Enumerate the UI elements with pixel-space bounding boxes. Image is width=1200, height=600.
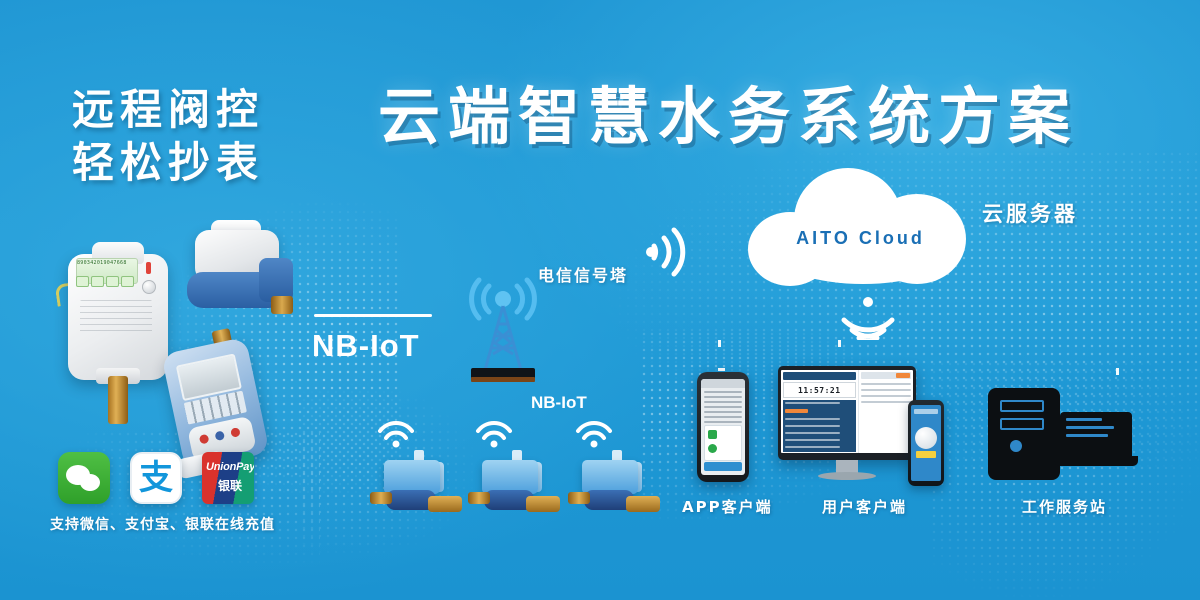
meter-led-indicator <box>146 262 151 274</box>
tower-label: 电信信号塔 <box>538 262 628 286</box>
tagline: 远程阀控 轻松抄表 <box>72 84 264 189</box>
alipay-glyph: 支 <box>139 461 173 495</box>
white-smart-water-meter: 890342019047668 <box>62 236 174 412</box>
field-water-meter <box>566 456 662 528</box>
nbiot-primary-text: NB-IoT <box>312 328 420 363</box>
meter-button <box>142 280 156 294</box>
wifi-signal-icon-uplink <box>646 220 702 284</box>
cloud-server-icon: AITO Cloud <box>748 168 973 286</box>
tagline-line-2: 轻松抄表 <box>72 137 264 190</box>
field-water-meter <box>466 456 562 528</box>
meter-spec-label <box>80 300 152 336</box>
telecom-signal-tower-icon <box>455 272 551 384</box>
page-title: 云端智慧水务系统方案 <box>378 86 1078 148</box>
unionpay-cn-label: 银联 <box>218 477 242 494</box>
wechat-pay-icon <box>58 452 110 504</box>
valve-water-meter <box>175 230 305 340</box>
client-label-workstation: 工作服务站 <box>1022 496 1107 517</box>
secondary-smartphone-icon <box>908 400 944 486</box>
monitor-base <box>818 472 876 480</box>
cloud-brand-text: AITO Cloud <box>748 228 973 249</box>
valve-brass-fitting <box>271 296 293 314</box>
desktop-monitor-icon: 11:57:21 <box>778 366 916 488</box>
link-bus-to-app <box>718 340 721 370</box>
client-label-app: APP客户端 <box>682 496 773 517</box>
server-workstation-icon <box>988 388 1138 484</box>
nbiot-secondary-label: NB-IoT <box>531 393 587 413</box>
monitor-screen: 11:57:21 <box>781 370 913 453</box>
smartphone-icon <box>697 372 749 482</box>
nbiot-rule <box>314 314 432 317</box>
monitor-frame: 11:57:21 <box>778 366 916 460</box>
unionpay-icon: UnionPay 银联 <box>202 452 254 504</box>
meter-status-icons <box>76 276 134 287</box>
field-water-meter <box>368 456 464 528</box>
phone-screen <box>701 379 745 475</box>
client-label-pc: 用户客户端 <box>822 496 907 517</box>
wifi-icon <box>376 416 416 455</box>
payment-caption: 支持微信、支付宝、银联在线充值 <box>50 514 275 534</box>
poster-canvas: 远程阀控 轻松抄表 云端智慧水务系统方案 890342019047668 <box>0 0 1200 600</box>
unionpay-wordmark: UnionPay <box>206 461 250 473</box>
laptop <box>1054 412 1138 468</box>
meter-brass-pipe <box>108 376 128 424</box>
wifi-icon <box>474 416 514 455</box>
dashboard-clock: 11:57:21 <box>783 382 856 398</box>
nbiot-primary-label: NB-IoT <box>312 328 420 364</box>
cloud-server-label: 云服务器 <box>982 198 1078 228</box>
server-tower <box>988 388 1060 480</box>
meter-serial-digits: 890342019047668 <box>77 260 137 266</box>
alipay-icon: 支 <box>130 452 182 504</box>
wifi-signal-icon-downlink <box>838 296 898 340</box>
wifi-icon <box>574 416 614 455</box>
tagline-line-1: 远程阀控 <box>72 84 264 137</box>
